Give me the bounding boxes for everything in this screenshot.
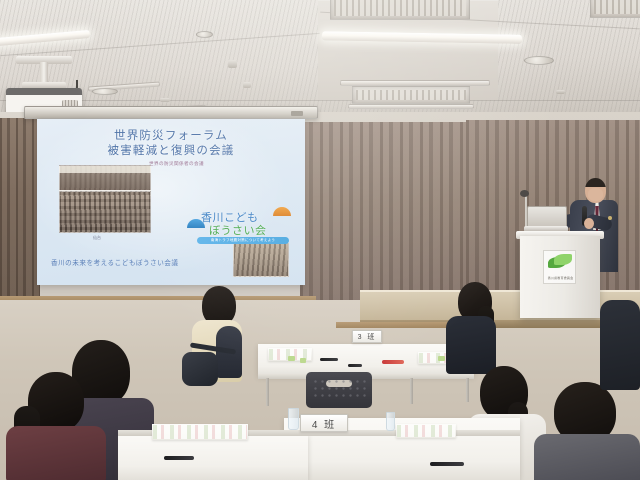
slide-title-line1: 世界防災フォーラム <box>37 129 305 144</box>
table-placard-back: 3 班 <box>352 330 382 343</box>
sticky-note <box>300 358 306 363</box>
logo-ribbon-text: 南海トラフ地震対策について考えよう <box>197 237 289 244</box>
table-placard-front: 4 班 <box>300 414 348 432</box>
slide-photo-hall-top <box>59 165 151 191</box>
curtain-center <box>300 122 480 302</box>
smoke-sensor-2 <box>243 82 251 88</box>
podium-logo-plate: 香川県教育委員会 <box>543 250 576 284</box>
handout <box>152 424 248 440</box>
slide-photo-caption: 仙台 <box>93 235 101 241</box>
pen <box>348 364 362 367</box>
ceiling-speaker-2 <box>524 56 554 65</box>
leaf-shape-light <box>554 254 572 265</box>
folding-chair <box>306 372 372 408</box>
ceiling-speaker-1 <box>196 31 213 38</box>
podium-logo-text: 香川県教育委員会 <box>546 276 575 280</box>
speaker-right-hand <box>584 218 594 229</box>
slide-photo-workshop <box>233 243 289 277</box>
ac-vent-lower <box>352 86 470 104</box>
ac-vent-top <box>330 0 470 20</box>
ceiling-seam-3 <box>0 100 640 101</box>
ceiling-speaker-3 <box>92 88 118 95</box>
microphone-head <box>520 190 529 197</box>
chair-perforation <box>312 378 366 397</box>
speaker-face <box>588 188 603 201</box>
podium-leaf-icon <box>548 254 573 271</box>
handout <box>396 424 456 438</box>
slide-subtitle: 世界の防災関係者の会議 <box>149 161 269 167</box>
participant-far-right-edge <box>600 300 640 390</box>
downlight-1 <box>160 98 170 102</box>
curtain-left <box>0 118 40 306</box>
participant-front-girl <box>6 372 106 480</box>
torso <box>534 434 640 480</box>
pen <box>320 358 338 361</box>
drinking-glass <box>288 408 299 430</box>
downlight-2 <box>556 90 565 94</box>
projector-pole <box>40 62 48 84</box>
ac-vent-right <box>590 0 640 18</box>
pen-front <box>164 456 194 460</box>
vent-slats <box>356 90 466 100</box>
pen-front-right <box>430 462 464 466</box>
ceiling-rail-2 <box>340 80 490 86</box>
projection-screen: 世界防災フォーラム 被害軽減と復興の会議 世界の防災関係者の会議 仙台 香川こど… <box>37 119 305 285</box>
presentation-room-photo: 世界防災フォーラム 被害軽減と復興の会議 世界の防災関係者の会議 仙台 香川こど… <box>0 0 640 480</box>
table-leg <box>266 378 269 406</box>
smoke-sensor-1 <box>228 60 237 68</box>
torso <box>6 426 106 480</box>
handout-print <box>397 425 455 437</box>
screen-case-knob <box>291 111 303 116</box>
table-row-front-left <box>118 434 308 480</box>
red-marker <box>382 360 404 364</box>
slide-footer-text: 香川の未来を考えるこどもぼうさい会議 <box>51 257 179 267</box>
participant-back-right <box>444 282 502 374</box>
vent-slats <box>334 0 466 16</box>
speaker-lapel-badge <box>608 216 612 220</box>
participant-braided <box>186 286 248 382</box>
sticky-note <box>288 356 295 361</box>
slide-title-line2: 被害軽減と復興の会議 <box>37 144 305 159</box>
logo-arc-orange <box>273 207 291 216</box>
participant-right-boy <box>534 382 640 480</box>
screen-roller-case <box>24 106 318 119</box>
logo-line-2: ぼうさい会 <box>209 222 267 238</box>
slide-title: 世界防災フォーラム 被害軽減と復興の会議 <box>37 129 305 159</box>
drinking-glass <box>386 412 395 431</box>
torso <box>600 300 640 390</box>
handout-print <box>153 425 247 439</box>
ceiling-rail-3 <box>348 104 474 109</box>
backpack <box>182 352 218 386</box>
slide-photo-hall-audience <box>59 191 151 233</box>
presenter-laptop-screen <box>527 206 567 227</box>
table-leg <box>410 378 413 404</box>
vent-slats <box>594 0 640 14</box>
kagawa-kodomo-bousai-logo: 香川こども ぼうさい会 南海トラフ地震対策について考えよう <box>187 207 295 247</box>
